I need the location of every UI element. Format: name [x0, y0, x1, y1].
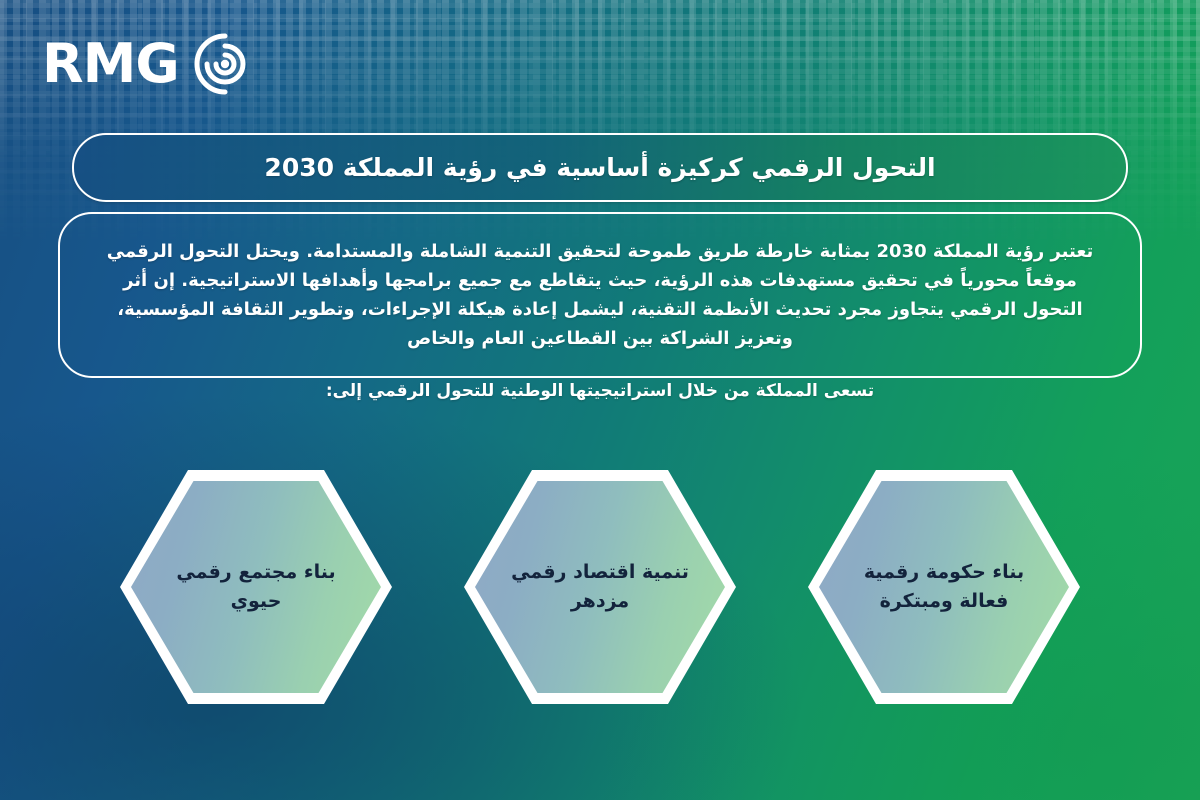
body-paragraph-box: تعتبر رؤية المملكة 2030 بمثابة خارطة طري…: [58, 212, 1142, 378]
page-title: التحول الرقمي كركيزة أساسية في رؤية المم…: [230, 152, 969, 183]
body-paragraph: تعتبر رؤية المملكة 2030 بمثابة خارطة طري…: [60, 237, 1140, 354]
goal-label: تنمية اقتصاد رقمي مزدهر: [502, 558, 698, 617]
goal-hexagon-economy: تنمية اقتصاد رقمي مزدهر: [464, 470, 736, 704]
goal-label: بناء مجتمع رقمي حيوي: [158, 558, 354, 617]
infographic-canvas: RMG التحول الرقمي كركيزة أساسية في رؤية …: [0, 0, 1200, 800]
goal-hexagon-government: بناء حكومة رقمية فعالة ومبتكرة: [808, 470, 1080, 704]
rmg-spiral-logo-icon: [193, 32, 257, 96]
goals-lead-in: تسعى المملكة من خلال استراتيجيتها الوطني…: [0, 381, 1200, 401]
brand-logo: RMG: [42, 32, 257, 96]
brand-wordmark: RMG: [42, 37, 179, 91]
goal-hexagon-society: بناء مجتمع رقمي حيوي: [120, 470, 392, 704]
title-banner: التحول الرقمي كركيزة أساسية في رؤية المم…: [72, 133, 1128, 202]
goal-label: بناء حكومة رقمية فعالة ومبتكرة: [846, 558, 1042, 617]
goals-hexagon-row: بناء حكومة رقمية فعالة ومبتكرة تنمية اقت…: [0, 470, 1200, 710]
